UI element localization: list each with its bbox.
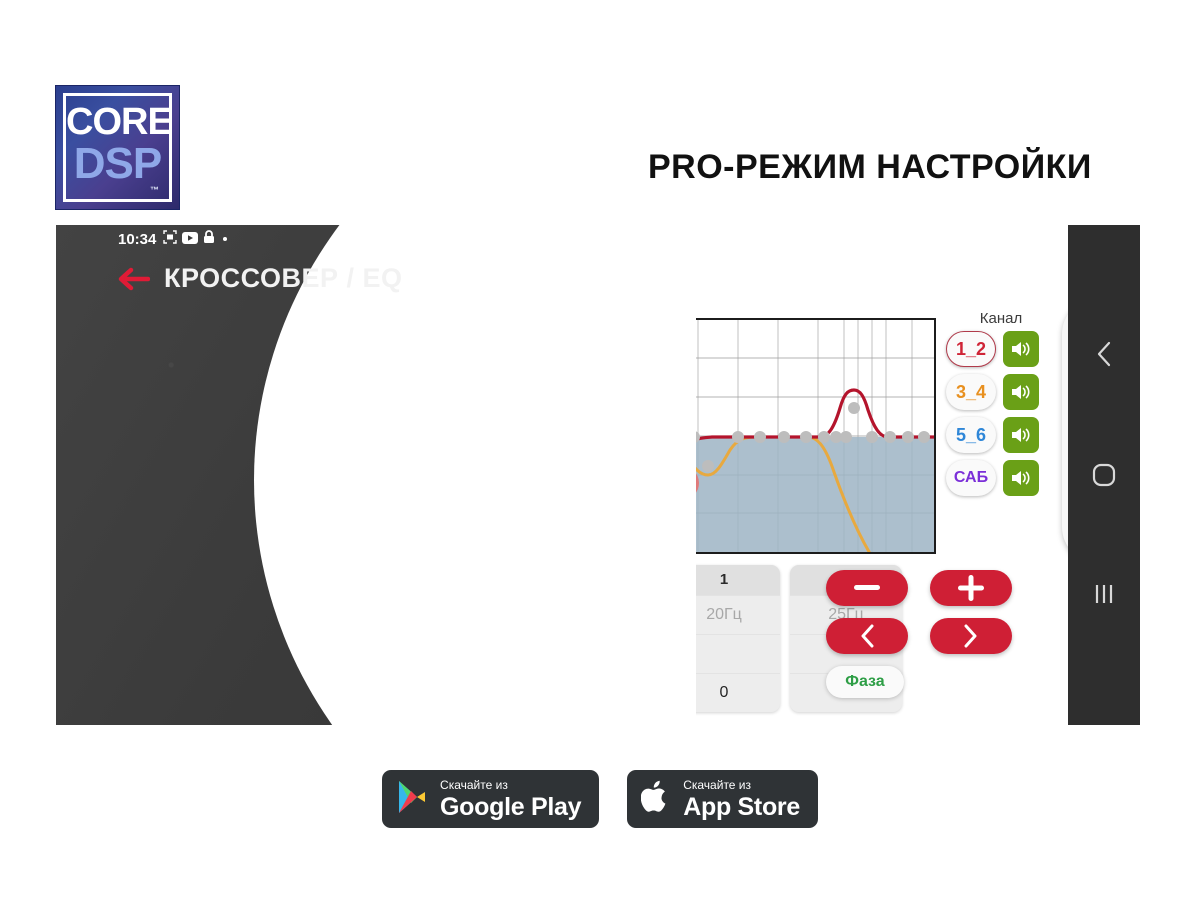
nav-recents-icon[interactable]: [1091, 582, 1117, 611]
app-screenshot: 18 12 6 0 -6 -12 -18 SO UN D: [56, 225, 1140, 725]
logo-dsp-text: DSP: [66, 141, 169, 187]
android-nav-bar: [1068, 225, 1140, 725]
plus-icon: [958, 575, 984, 601]
store-badges: Скачайте из Google Play Скачайте из App …: [0, 770, 1200, 828]
app-store-badge[interactable]: Скачайте из App Store: [627, 770, 818, 828]
channel-button-1_2[interactable]: 1_2: [946, 331, 996, 367]
nav-back-icon[interactable]: [1093, 339, 1115, 374]
chevron-right-icon: [962, 623, 980, 649]
logo-core-text: CORE: [66, 102, 169, 142]
app-store-title: App Store: [683, 795, 800, 820]
logo-trademark: ™: [150, 185, 159, 195]
speaker-icon[interactable]: [1003, 374, 1039, 410]
coredsp-logo: CORE DSP ™: [55, 85, 180, 210]
status-bar: 10:34: [56, 225, 696, 253]
youtube-icon: [182, 231, 198, 248]
screenshot-icon: [163, 230, 177, 248]
channel-row-3_4[interactable]: 3_4: [946, 374, 1056, 410]
speaker-icon[interactable]: [1003, 460, 1039, 496]
logo-border: CORE DSP ™: [63, 93, 172, 202]
action-buttons: Фаза: [826, 570, 1012, 698]
previous-button[interactable]: [826, 618, 908, 654]
minus-icon: [854, 585, 880, 591]
channel-row-sab[interactable]: САБ: [946, 460, 1056, 496]
google-play-subtitle: Скачайте из: [440, 779, 581, 791]
channel-button-3_4[interactable]: 3_4: [946, 374, 996, 410]
channel-panel-title: Канал: [946, 310, 1056, 327]
app-dark-overlay: 10:34: [56, 225, 696, 725]
speaker-icon[interactable]: [1003, 331, 1039, 367]
nav-home-icon[interactable]: [1091, 462, 1117, 493]
phase-button[interactable]: Фаза: [826, 666, 904, 698]
page-title: PRO-РЕЖИМ НАСТРОЙКИ: [648, 148, 1092, 187]
increment-button[interactable]: [930, 570, 1012, 606]
status-bar-time: 10:34: [118, 231, 156, 248]
dot-icon: [223, 237, 227, 241]
app-light-reveal: [254, 225, 696, 725]
speaker-icon[interactable]: [1003, 417, 1039, 453]
app-title: КРОССОВЕР / EQ: [164, 263, 403, 294]
app-store-subtitle: Скачайте из: [683, 779, 800, 791]
back-arrow-icon[interactable]: [118, 266, 150, 292]
lock-icon: [203, 230, 215, 248]
channel-button-sab[interactable]: САБ: [946, 460, 996, 496]
channel-row-5_6[interactable]: 5_6: [946, 417, 1056, 453]
google-play-text: Скачайте из Google Play: [440, 779, 581, 820]
next-button[interactable]: [930, 618, 1012, 654]
app-header: КРОССОВЕР / EQ: [118, 263, 403, 294]
google-play-title: Google Play: [440, 795, 581, 820]
google-play-icon: [396, 779, 428, 820]
chevron-left-icon: [858, 623, 876, 649]
action-row-1: [826, 570, 1012, 606]
google-play-badge[interactable]: Скачайте из Google Play: [382, 770, 599, 828]
channel-button-5_6[interactable]: 5_6: [946, 417, 996, 453]
channel-row-1_2[interactable]: 1_2: [946, 331, 1056, 367]
action-row-2: [826, 618, 1012, 654]
slide-root: CORE DSP ™ PRO-РЕЖИМ НАСТРОЙКИ 18 12 6 0…: [0, 0, 1200, 900]
app-store-text: Скачайте из App Store: [683, 779, 800, 820]
status-bar-icons: [163, 230, 227, 248]
apple-icon: [641, 779, 671, 820]
channel-panel: Канал 1_2 3_4 5_6 САБ: [946, 310, 1056, 503]
decrement-button[interactable]: [826, 570, 908, 606]
